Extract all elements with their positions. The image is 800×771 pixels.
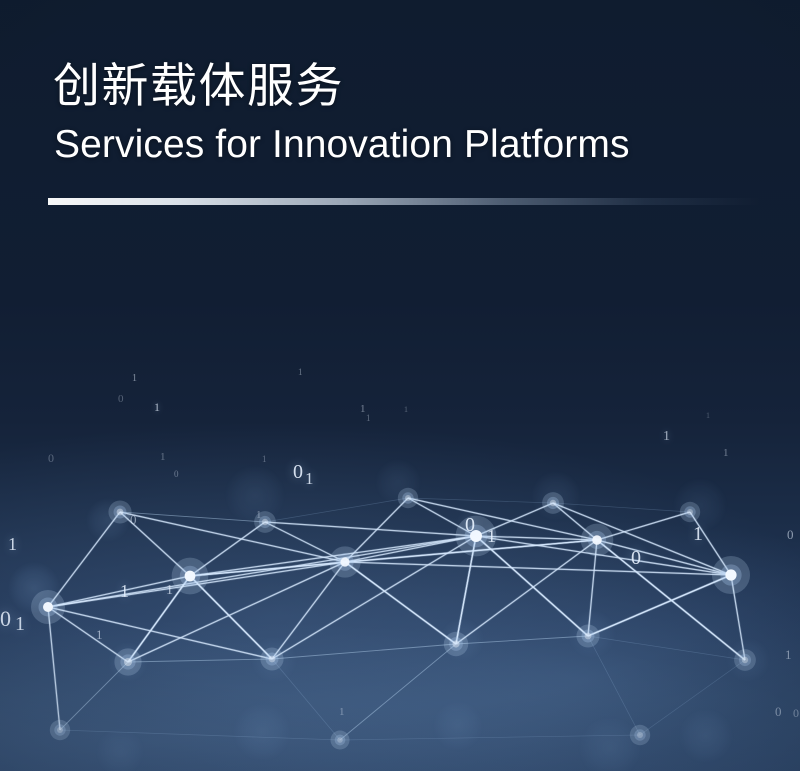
mesh-line bbox=[60, 730, 340, 740]
page-title-chinese: 创新载体服务 bbox=[53, 58, 753, 113]
innovation-platform-banner: 111110111101010101101100110111010 创新载体服务… bbox=[0, 0, 800, 771]
mesh-line bbox=[128, 659, 272, 662]
mesh-line bbox=[48, 536, 476, 607]
mesh-line bbox=[345, 562, 731, 575]
mesh-line bbox=[588, 575, 731, 636]
mesh-line bbox=[60, 662, 128, 730]
mesh-node bbox=[585, 633, 592, 640]
mesh-nodes bbox=[31, 488, 756, 750]
mesh-node bbox=[637, 732, 643, 738]
mesh-line bbox=[48, 607, 272, 659]
mesh-line bbox=[272, 644, 456, 659]
headline-block: 创新载体服务 Services for Innovation Platforms bbox=[53, 58, 753, 168]
mesh-line bbox=[48, 607, 60, 730]
page-title-english: Services for Innovation Platforms bbox=[54, 122, 753, 167]
mesh-node bbox=[185, 571, 196, 582]
mesh-node bbox=[43, 602, 53, 612]
mesh-line bbox=[588, 636, 640, 735]
mesh-node bbox=[337, 737, 343, 743]
mesh-line bbox=[272, 562, 345, 659]
mesh-node bbox=[340, 557, 349, 566]
mesh-node bbox=[269, 656, 276, 663]
mesh-node bbox=[470, 530, 482, 542]
mesh-node bbox=[725, 569, 736, 580]
mesh-line bbox=[340, 735, 640, 740]
mesh-node bbox=[405, 495, 411, 501]
mesh-node bbox=[687, 509, 693, 515]
mesh-node bbox=[452, 640, 459, 647]
mesh-node bbox=[742, 657, 748, 663]
mesh-line bbox=[456, 636, 588, 644]
mesh-node bbox=[57, 727, 63, 733]
mesh-lines bbox=[48, 498, 745, 740]
mesh-node bbox=[592, 535, 602, 545]
mesh-line bbox=[265, 522, 476, 536]
title-divider bbox=[48, 198, 760, 205]
mesh-node bbox=[117, 509, 124, 516]
mesh-node bbox=[124, 658, 132, 666]
mesh-line bbox=[272, 659, 340, 740]
mesh-line bbox=[190, 540, 597, 576]
mesh-line bbox=[640, 660, 745, 735]
mesh-node bbox=[550, 500, 556, 506]
mesh-line bbox=[340, 644, 456, 740]
mesh-node bbox=[262, 519, 268, 525]
mesh-line bbox=[345, 562, 456, 644]
